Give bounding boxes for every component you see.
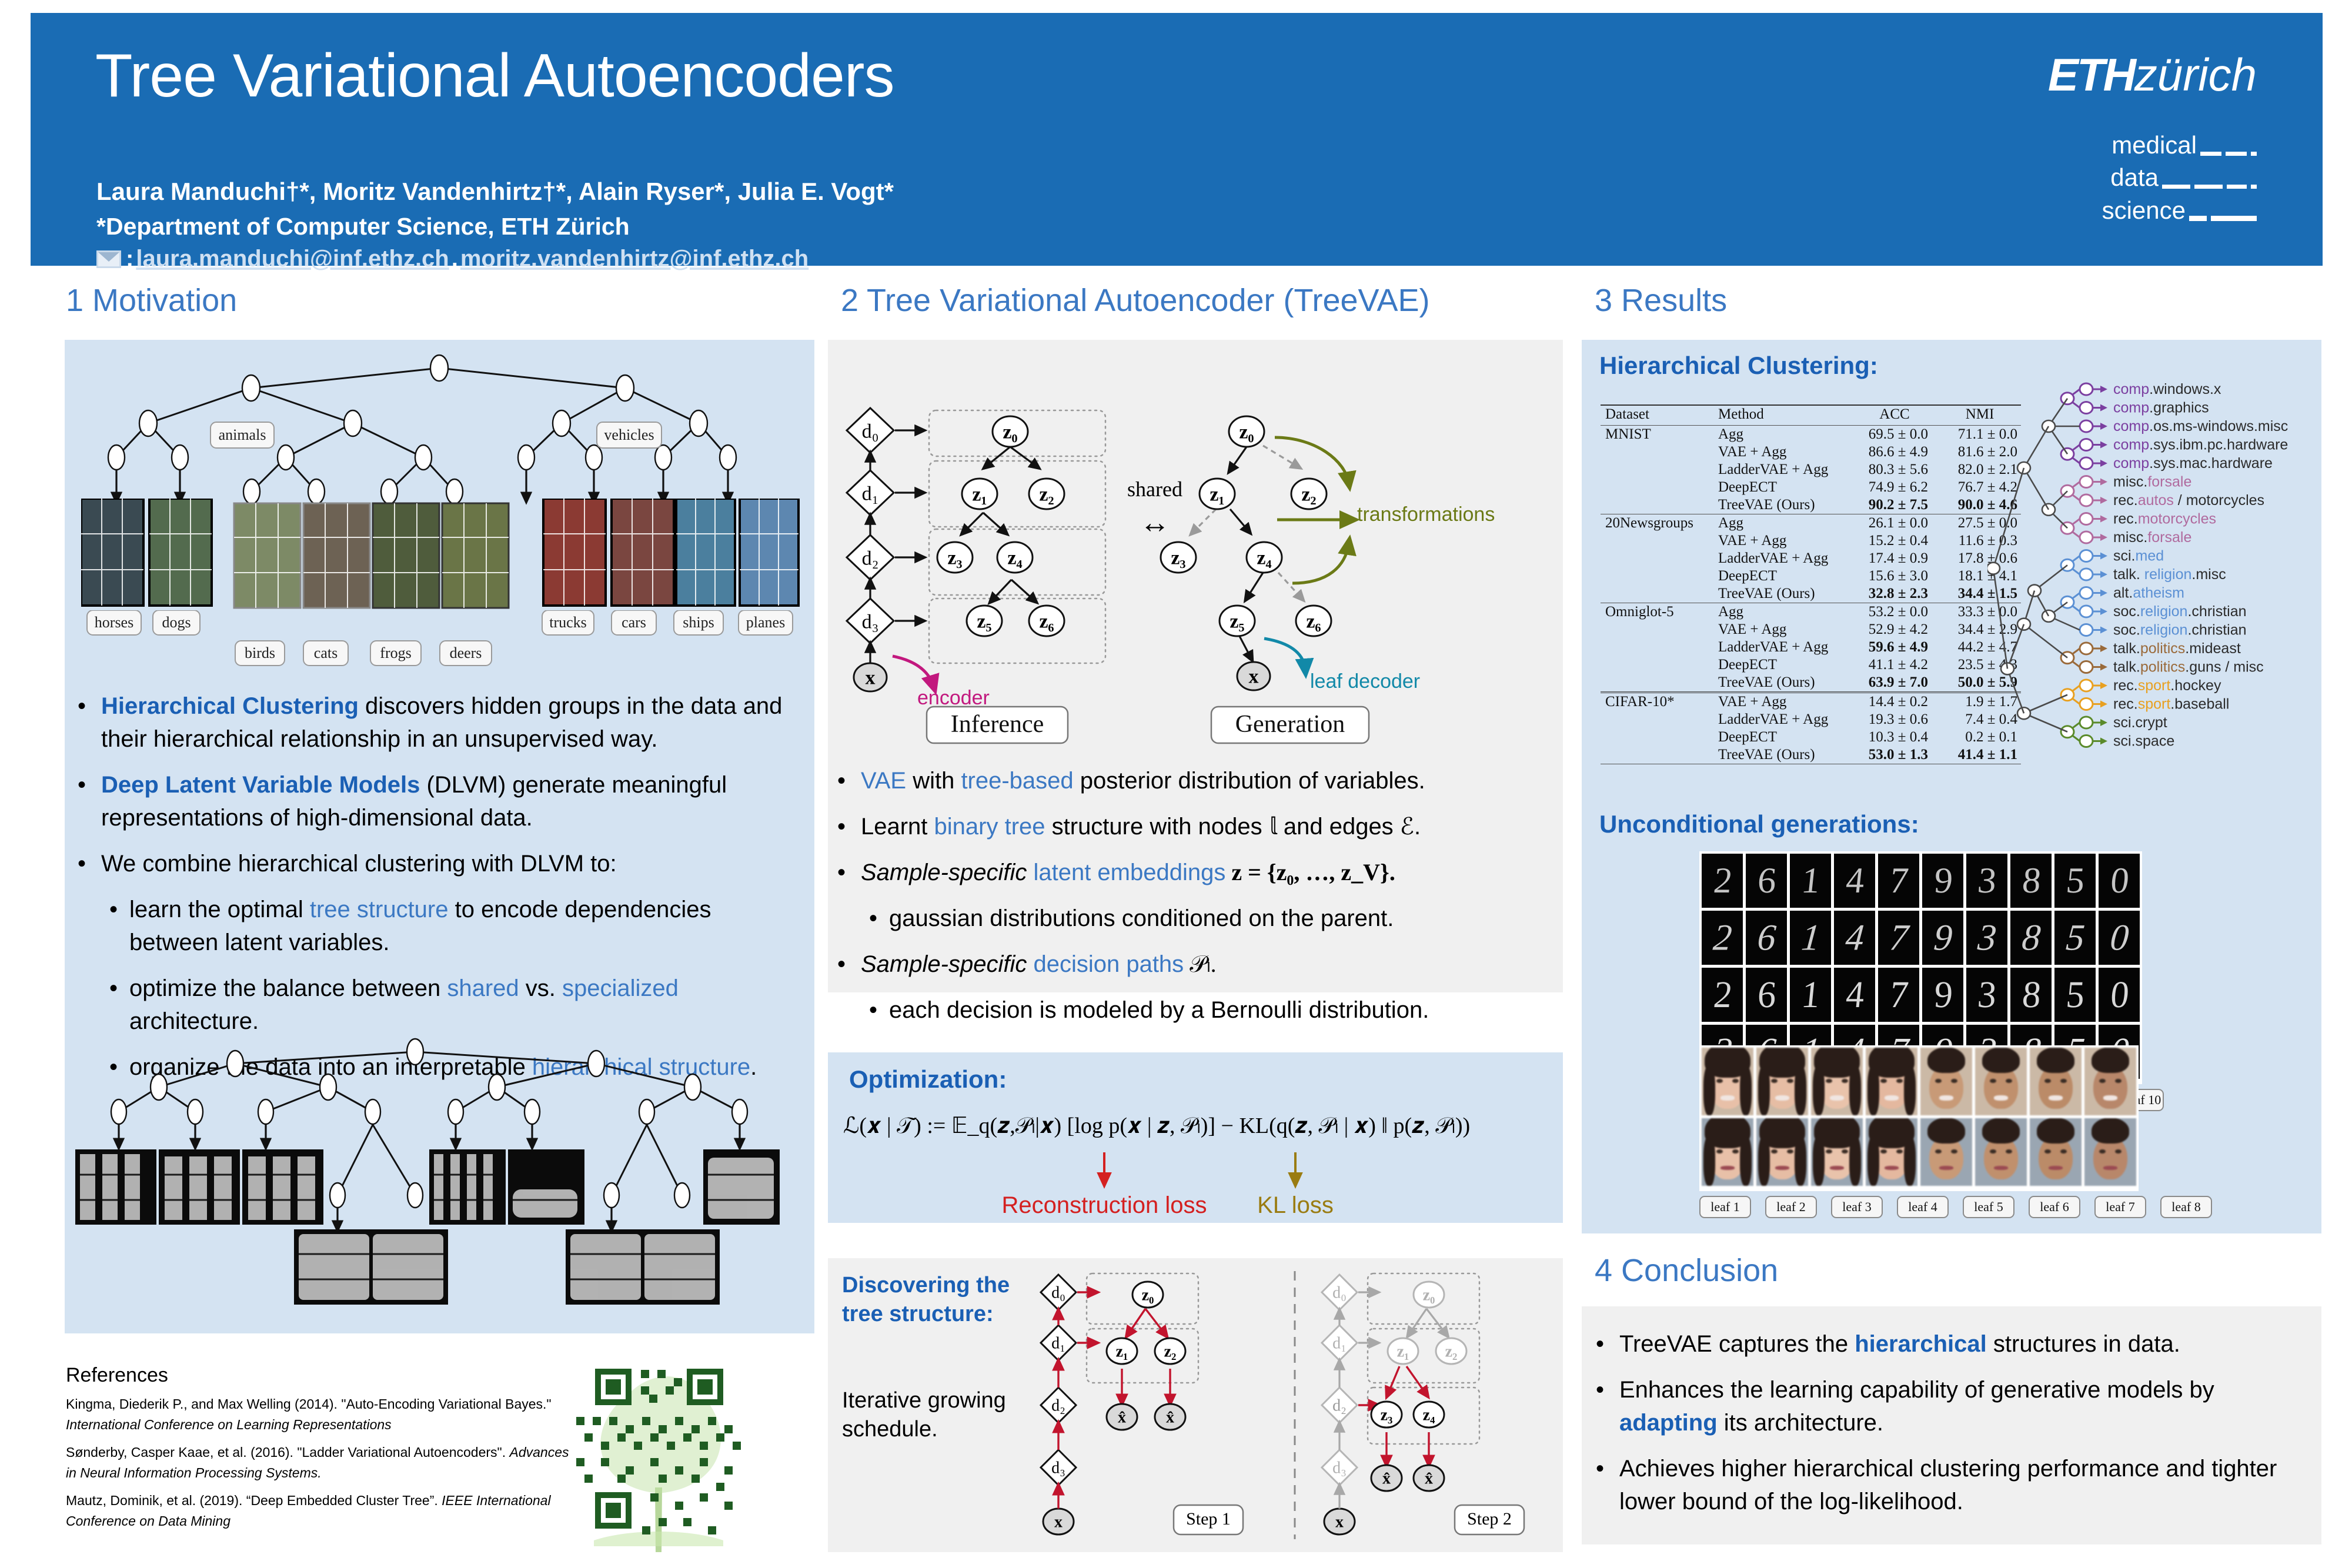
generated-digit-cell: 6 [1746, 968, 1787, 1022]
bullet-item: •We combine hierarchical clustering with… [78, 847, 804, 880]
table-row: DeepECT41.1 ± 4.223.5 ± 4.3 [1601, 656, 2021, 674]
generated-digit-cell: 8 [2010, 911, 2052, 965]
table-cell-acc: 41.1 ± 4.2 [1850, 656, 1939, 674]
hierarchical-clustering-heading: Hierarchical Clustering: [1599, 352, 1878, 380]
dendro-leaf-node [2080, 624, 2093, 636]
section-heading-results: 3 Results [1595, 282, 1727, 319]
svg-text:dogs: dogs [162, 614, 191, 631]
results-table-wrapper: Dataset Method ACC NMI MNISTAgg69.5 ± 0.… [1601, 404, 2021, 766]
dendro-leaf-node [2080, 717, 2093, 728]
table-row: LadderVAE + Agg17.4 ± 0.917.8 ± 0.6 [1601, 550, 2021, 567]
svg-text:x: x [1335, 1513, 1344, 1532]
svg-text:d₂: d₂ [862, 548, 879, 570]
label-planes: planes [739, 610, 793, 635]
dendro-leaf-label: rec.sport.hockey [2113, 677, 2221, 694]
growing-schedule-diagram: d₀ d₁ d₂ d₃ x z₀ z₁ z₂ x̂ x̂ Step 1 [1022, 1263, 1551, 1551]
generated-digit-cell: 7 [1878, 911, 1919, 965]
mnist-generation-row: 2614793850 [1702, 968, 2140, 1022]
mds-dashes-3 [2189, 216, 2257, 226]
email-separator: , [452, 246, 458, 272]
leaf-label-pill: leaf 5 [1963, 1196, 2014, 1218]
generated-digit-cell: 1 [1790, 911, 1831, 965]
svg-text:d₃: d₃ [1332, 1459, 1347, 1477]
dendro-leaf-label: misc.forsale [2113, 474, 2191, 490]
svg-text:deers: deers [450, 644, 482, 661]
reference-item: Sønderby, Casper Kaae, et al. (2016). "L… [66, 1442, 577, 1483]
label-dogs: dogs [153, 610, 200, 635]
dendro-leaf-label: sci.space [2113, 733, 2174, 750]
mds-line-science: science [2102, 194, 2186, 226]
reconstruction-loss-label: Reconstruction loss [1001, 1192, 1207, 1219]
table-cell-acc: 53.0 ± 1.3 [1850, 746, 1939, 764]
svg-text:d₃: d₃ [862, 611, 879, 633]
reference-item: Mautz, Dominik, et al. (2019). “Deep Emb… [66, 1490, 577, 1532]
dendro-leaf-node [2080, 476, 2093, 488]
generated-digit-cell: 7 [1878, 968, 1919, 1022]
eth-letters: ETH [2048, 49, 2134, 101]
generated-face-cell [1811, 1118, 1863, 1186]
results-table: Dataset Method ACC NMI MNISTAgg69.5 ± 0.… [1601, 404, 2021, 766]
references-block: References Kingma, Diederik P., and Max … [66, 1364, 577, 1532]
concept-label-vehicles: vehicles [597, 422, 661, 448]
bullet-dot-icon: • [1596, 1328, 1619, 1360]
generated-digit-cell: 2 [1702, 968, 1743, 1022]
bullet-dot-icon: • [1596, 1452, 1619, 1518]
table-cell-dataset: Omniglot-5 [1601, 603, 1718, 621]
svg-text:d₁: d₁ [1051, 1335, 1065, 1353]
leaf-label-pill: leaf 6 [2029, 1196, 2080, 1218]
svg-text:x̂: x̂ [1425, 1470, 1433, 1488]
table-cell-acc: 63.9 ± 7.0 [1850, 674, 1939, 693]
dendro-leaf-label: talk.politics.guns / misc [2113, 659, 2264, 676]
bullet-dot-icon: • [837, 764, 861, 797]
bullet-text-fragment: tree-based [961, 768, 1073, 794]
bullet-dot-icon: • [78, 847, 101, 880]
eth-zurich-logo: ETHzürich medical data science [2048, 48, 2257, 226]
svg-text:birds: birds [245, 644, 275, 661]
table-cell-dataset [1601, 674, 1718, 693]
table-cell-method: LadderVAE + Agg [1718, 638, 1850, 656]
generated-face-cell [1975, 1048, 2027, 1115]
bullet-text-fragment: with [906, 768, 961, 794]
bullet-content: Enhances the learning capability of gene… [1619, 1373, 2310, 1439]
dendro-leaf-node [2080, 698, 2093, 710]
table-cell-dataset [1601, 479, 1718, 496]
medical-data-science-logo: medical data science [2048, 129, 2257, 226]
dendro-arrow-icon [2100, 571, 2107, 578]
table-cell-acc: 74.9 ± 6.2 [1850, 479, 1939, 496]
table-cell-dataset [1601, 621, 1718, 638]
table-cell-dataset: MNIST [1601, 426, 1718, 444]
table-row: TreeVAE (Ours)63.9 ± 7.050.0 ± 5.9 [1601, 674, 2021, 693]
mds-line-medical: medical [2112, 129, 2197, 161]
table-cell-dataset [1601, 443, 1718, 461]
email-colon: : [126, 246, 133, 272]
generated-digit-cell: 8 [2010, 854, 2052, 908]
generated-digit-cell: 6 [1746, 854, 1787, 908]
generated-digit-cell: 0 [2099, 968, 2140, 1022]
table-cell-dataset [1601, 656, 1718, 674]
generated-digit-cell: 5 [2054, 854, 2096, 908]
dendro-leaf-label: comp.sys.mac.hardware [2113, 455, 2273, 472]
svg-text:z₄: z₄ [1007, 547, 1022, 569]
step2-badge: Step 2 [1455, 1505, 1524, 1534]
table-cell-method: VAE + Agg [1718, 693, 1850, 711]
label-birds: birds [235, 641, 285, 666]
table-cell-dataset [1601, 728, 1718, 746]
table-row: TreeVAE (Ours)90.2 ± 7.590.0 ± 4.6 [1601, 496, 2021, 514]
svg-text:trucks: trucks [549, 614, 587, 631]
celeba-generation-grid: leaf 1leaf 2leaf 3leaf 4leaf 5leaf 6leaf… [1699, 1045, 2212, 1218]
qr-code-with-tree-art[interactable] [559, 1352, 759, 1552]
bullet-text-fragment: each decision is modeled by a Bernoulli … [889, 997, 1429, 1023]
svg-text:z₁: z₁ [1116, 1343, 1128, 1361]
reference-text: Kingma, Diederik P., and Max Welling (20… [66, 1396, 552, 1412]
generated-digit-cell: 3 [1966, 854, 2007, 908]
table-cell-method: TreeVAE (Ours) [1718, 674, 1850, 693]
bullet-text-fragment: z = {z₀, …, z_V}. [1225, 859, 1395, 885]
conclusion-panel: •TreeVAE captures the hierarchical struc… [1582, 1306, 2321, 1544]
generated-digit-cell: 9 [1922, 911, 1963, 965]
face-generation-row [1702, 1048, 2136, 1115]
bullet-content: Sample-specific decision paths 𝒫ₗ. [861, 948, 1217, 981]
bullet-item: •Learnt binary tree structure with nodes… [837, 810, 1558, 843]
label-horses: horses [87, 610, 141, 635]
svg-text:Generation: Generation [1235, 711, 1345, 738]
svg-text:d₀: d₀ [862, 421, 879, 443]
generated-face-cell [1975, 1118, 2027, 1186]
bullet-text-fragment: vs. [519, 975, 562, 1001]
table-row: DeepECT74.9 ± 6.276.7 ± 4.2 [1601, 479, 2021, 496]
svg-text:z₀: z₀ [1239, 422, 1254, 443]
generated-digit-cell: 4 [1834, 854, 1875, 908]
svg-text:cats: cats [314, 644, 338, 661]
dendro-arrow-icon [2100, 516, 2107, 523]
generated-digit-cell: 3 [1966, 911, 2007, 965]
generated-face-cell [1702, 1048, 1753, 1115]
dendro-arrow-icon [2100, 460, 2107, 467]
eth-wordmark: ETHzürich [2048, 48, 2257, 102]
bullet-text-fragment: Achieves higher hierarchical clustering … [1619, 1456, 2277, 1514]
table-row: LadderVAE + Agg59.6 ± 4.944.2 ± 4.7 [1601, 638, 2021, 656]
bidirectional-arrow-icon: ↔ [1140, 506, 1170, 540]
bullet-text-fragment: hierarchical [1855, 1331, 1987, 1357]
bullet-text-fragment: tree structure [310, 897, 449, 922]
svg-text:ships: ships [683, 614, 714, 631]
bullet-item: •Sample-specific decision paths 𝒫ₗ. [837, 948, 1558, 981]
bullet-text-fragment: specialized [562, 975, 679, 1001]
table-row: MNISTAgg69.5 ± 0.071.1 ± 0.0 [1601, 426, 2021, 444]
bullet-text-fragment [1027, 860, 1033, 885]
table-row: TreeVAE (Ours)53.0 ± 1.341.4 ± 1.1 [1601, 746, 2021, 764]
table-bottom-rule [1601, 764, 2021, 766]
generated-face-cell [1866, 1048, 1917, 1115]
svg-text:horses: horses [95, 614, 133, 631]
section-heading-motivation: 1 Motivation [66, 282, 237, 319]
bullet-item: •Sample-specific latent embeddings z = {… [837, 856, 1558, 889]
section-heading-treevae: 2 Tree Variational Autoencoder (TreeVAE) [841, 282, 1430, 319]
svg-text:x: x [1054, 1513, 1063, 1532]
dendro-leaf-label: rec.motorcycles [2113, 511, 2216, 527]
svg-text:d₂: d₂ [1332, 1397, 1347, 1415]
dendro-leaf-label: soc.religion.christian [2113, 622, 2247, 638]
author-list: Laura Manduchi†*, Moritz Vandenhirtz†*, … [96, 178, 894, 206]
bullet-text-fragment: binary tree [934, 814, 1045, 840]
bullet-dot-icon: • [1596, 1373, 1619, 1439]
dendro-leaf-node [2080, 643, 2093, 654]
bullet-text-fragment: Enhances the learning capability of gene… [1619, 1377, 2214, 1403]
bullet-item: •learn the optimal tree structure to enc… [78, 893, 804, 959]
results-panel: Hierarchical Clustering: Dataset Method … [1582, 340, 2321, 1233]
bullet-text-fragment: Hierarchical Clustering [101, 693, 359, 719]
svg-text:z₅: z₅ [977, 611, 991, 633]
generated-face-cell [1866, 1118, 1917, 1186]
motivation-panel: animals vehicles [65, 340, 814, 1333]
table-cell-dataset [1601, 711, 1718, 728]
bullet-text-fragment: optimize the balance between [129, 975, 447, 1001]
bullet-content: We combine hierarchical clustering with … [101, 847, 617, 880]
table-cell-method: Agg [1718, 603, 1850, 621]
bullet-dot-icon: • [109, 893, 129, 959]
label-trucks: trucks [542, 610, 594, 635]
dendro-leaf-label: comp.os.ms-windows.misc [2113, 418, 2288, 434]
table-cell-dataset [1601, 550, 1718, 567]
table-cell-acc: 17.4 ± 0.9 [1850, 550, 1939, 567]
svg-text:Step 2: Step 2 [1467, 1509, 1512, 1529]
generated-face-cell [2030, 1118, 2082, 1186]
shared-label: shared [1127, 477, 1182, 501]
bullet-text-fragment [1027, 951, 1033, 977]
table-cell-acc: 14.4 ± 0.2 [1850, 693, 1939, 711]
label-cats: cats [303, 641, 348, 666]
mnist-generation-row: 2614793850 [1702, 911, 2140, 965]
generated-face-cell [1920, 1048, 1972, 1115]
bullet-text-fragment: adapting [1619, 1410, 1718, 1436]
bullet-content: gaussian distributions conditioned on th… [889, 902, 1394, 935]
leaf-label-pill: leaf 1 [1699, 1196, 1751, 1218]
discovery-body: Iterative growing schedule. [842, 1386, 1006, 1445]
svg-text:planes: planes [746, 614, 785, 631]
bullet-text-fragment: Sample-specific [861, 951, 1027, 977]
dendro-arrow-icon [2100, 442, 2107, 449]
svg-text:z₃: z₃ [1171, 547, 1185, 569]
dendro-leaf-node [2080, 661, 2093, 673]
table-row: VAE + Agg15.2 ± 0.411.6 ± 0.3 [1601, 532, 2021, 550]
loss-arrows [828, 1150, 1563, 1195]
dendro-leaf-label: sci.crypt [2113, 714, 2167, 731]
table-cell-dataset [1601, 496, 1718, 514]
dendro-leaf-label: misc.forsale [2113, 529, 2191, 546]
face-generation-row [1702, 1118, 2136, 1186]
table-cell-method: VAE + Agg [1718, 532, 1850, 550]
bullet-text-fragment: gaussian distributions conditioned on th… [889, 905, 1394, 931]
table-cell-dataset: 20Newsgroups [1601, 514, 1718, 533]
bullet-text-fragment: decision paths [1033, 951, 1184, 977]
table-cell-acc: 19.3 ± 0.6 [1850, 711, 1939, 728]
svg-text:z₄: z₄ [1257, 547, 1271, 569]
bullet-text-fragment: structures in data. [1987, 1331, 2180, 1357]
references-heading: References [66, 1364, 577, 1387]
envelope-icon [96, 250, 121, 268]
svg-text:d₂: d₂ [1051, 1397, 1065, 1415]
bullet-text-fragment: Deep Latent Variable Models [101, 772, 420, 798]
elbo-formula: ℒ(𝒙 | 𝒯) := 𝔼_q(𝒛,𝒫ₗ|𝒙) [log p(𝒙 | 𝒛, 𝒫ₗ… [843, 1112, 1549, 1139]
leaf-decoder-label: leaf decoder [1310, 670, 1420, 693]
generated-digit-cell: 5 [2054, 911, 2096, 965]
reference-item: Kingma, Diederik P., and Max Welling (20… [66, 1394, 577, 1435]
bullet-dot-icon: • [78, 690, 101, 755]
dendro-leaf-label: comp.graphics [2113, 400, 2209, 416]
dendro-leaf-node [2080, 494, 2093, 506]
bullet-text-fragment: Learnt [861, 814, 934, 840]
table-row: CIFAR-10*VAE + Agg14.4 ± 0.21.9 ± 1.7 [1601, 693, 2021, 711]
bullet-item: •gaussian distributions conditioned on t… [837, 902, 1558, 935]
bullet-text-fragment: latent embeddings [1033, 860, 1225, 885]
generated-digit-cell: 7 [1878, 854, 1919, 908]
svg-text:d₁: d₁ [862, 483, 879, 505]
svg-text:x̂: x̂ [1118, 1409, 1126, 1427]
email-link-1[interactable]: laura.manduchi@inf.ethz.ch [136, 246, 449, 272]
generated-face-cell [2084, 1118, 2136, 1186]
bullet-dot-icon: • [869, 902, 889, 935]
svg-text:z₁: z₁ [972, 484, 987, 506]
reference-venue: International Conference on Learning Rep… [66, 1417, 392, 1432]
generated-digit-cell: 5 [2054, 968, 2096, 1022]
bullet-text-fragment: shared [447, 975, 519, 1001]
newsgroups-dendrogram: comp.windows.xcomp.graphicscomp.os.ms-wi… [1987, 375, 2317, 787]
bullet-text-fragment: TreeVAE captures the [1619, 1331, 1855, 1357]
dendro-leaf-node [2080, 439, 2093, 451]
bullet-text-fragment: posterior distribution of variables. [1074, 768, 1425, 794]
transformations-label: transformations [1357, 503, 1495, 526]
generated-digit-cell: 8 [2010, 968, 2052, 1022]
bullet-content: Achieves higher hierarchical clustering … [1619, 1452, 2310, 1518]
dendro-arrow-icon [2100, 645, 2107, 652]
bullet-content: learn the optimal tree structure to enco… [129, 893, 804, 959]
email-link-2[interactable]: moritz.vandenhirtz@inf.ethz.ch [460, 246, 808, 272]
table-cell-method: Agg [1718, 426, 1850, 444]
dendro-arrow-icon [2100, 423, 2107, 430]
table-row: VAE + Agg86.6 ± 4.981.6 ± 2.0 [1601, 443, 2021, 461]
dendro-leaf-node [2080, 531, 2093, 543]
dendro-arrow-icon [2100, 738, 2107, 745]
svg-text:z₀: z₀ [1142, 1286, 1154, 1305]
generated-face-cell [1702, 1118, 1753, 1186]
dendro-leaf-node [2080, 420, 2093, 432]
treevae-bullet-list: •VAE with tree-based posterior distribut… [837, 764, 1558, 1039]
table-cell-acc: 26.1 ± 0.0 [1850, 514, 1939, 533]
table-row: TreeVAE (Ours)32.8 ± 2.334.4 ± 1.5 [1601, 585, 2021, 603]
dendro-leaf-node [2080, 735, 2093, 747]
table-row: VAE + Agg52.9 ± 4.234.4 ± 2.9 [1601, 621, 2021, 638]
leaf-label-pill: leaf 3 [1831, 1196, 1883, 1218]
generated-digit-cell: 1 [1790, 968, 1831, 1022]
svg-text:z₁: z₁ [1210, 484, 1224, 506]
generated-face-cell [2030, 1048, 2082, 1115]
dendro-leaf-node [2080, 569, 2093, 580]
table-cell-method: TreeVAE (Ours) [1718, 585, 1850, 603]
bullet-content: each decision is modeled by a Bernoulli … [889, 994, 1429, 1027]
bullet-text-fragment: 𝒫ₗ. [1184, 951, 1216, 977]
table-cell-acc: 52.9 ± 4.2 [1850, 621, 1939, 638]
dendro-leaf-label: comp.windows.x [2113, 381, 2221, 397]
table-row: LadderVAE + Agg80.3 ± 5.682.0 ± 2.1 [1601, 461, 2021, 479]
optimization-heading: Optimization: [849, 1065, 1007, 1094]
svg-text:z₂: z₂ [1039, 484, 1054, 506]
svg-text:z₂: z₂ [1164, 1343, 1177, 1361]
table-header-row: Dataset Method ACC NMI [1601, 405, 2021, 426]
dendro-arrow-icon [2100, 682, 2107, 689]
bullet-text-fragment: its architecture. [1718, 1410, 1883, 1436]
table-cell-method: DeepECT [1718, 479, 1850, 496]
bullet-dot-icon: • [837, 948, 861, 981]
svg-text:x̂: x̂ [1166, 1409, 1174, 1427]
bullet-text-fragment: We combine hierarchical clustering with … [101, 851, 617, 877]
generated-digit-cell: 9 [1922, 854, 1963, 908]
conclusion-bullet-list: •TreeVAE captures the hierarchical struc… [1596, 1328, 2310, 1531]
dendro-leaf-label: sci.med [2113, 548, 2164, 564]
bullet-item: •TreeVAE captures the hierarchical struc… [1596, 1328, 2310, 1360]
table-row: DeepECT10.3 ± 0.40.2 ± 0.1 [1601, 728, 2021, 746]
table-cell-dataset [1601, 567, 1718, 585]
bullet-item: •Deep Latent Variable Models (DLVM) gene… [78, 768, 804, 834]
dendro-arrow-icon [2100, 590, 2107, 597]
label-frogs: frogs [370, 641, 421, 666]
dendro-arrow-icon [2100, 386, 2107, 393]
discovery-heading: Discovering the tree structure: [842, 1271, 1010, 1328]
bullet-content: Sample-specific latent embeddings z = {z… [861, 856, 1395, 889]
svg-text:z₂: z₂ [1445, 1343, 1458, 1361]
optimization-panel: Optimization: ℒ(𝒙 | 𝒯) := 𝔼_q(𝒛,𝒫ₗ|𝒙) [l… [828, 1052, 1563, 1223]
table-cell-acc: 59.6 ± 4.9 [1850, 638, 1939, 656]
svg-text:cars: cars [622, 614, 646, 631]
table-cell-method: LadderVAE + Agg [1718, 461, 1850, 479]
svg-text:d₀: d₀ [1332, 1284, 1347, 1302]
svg-text:z₀: z₀ [1003, 422, 1017, 443]
fashion-mnist-tree-diagram [65, 1019, 814, 1325]
dendro-leaf-node [2080, 457, 2093, 469]
dendro-arrow-icon [2100, 553, 2107, 560]
table-cell-method: DeepECT [1718, 656, 1850, 674]
table-cell-acc: 86.6 ± 4.9 [1850, 443, 1939, 461]
table-cell-method: DeepECT [1718, 728, 1850, 746]
inference-box: Inference [927, 707, 1068, 743]
generated-digit-cell: 2 [1702, 854, 1743, 908]
leaf-label-pill: leaf 2 [1765, 1196, 1817, 1218]
dendro-leaf-node [2080, 606, 2093, 617]
generation-box: Generation [1211, 707, 1369, 743]
dendro-leaf-label: comp.sys.ibm.pc.hardware [2113, 437, 2288, 453]
generated-digit-cell: 0 [2099, 911, 2140, 965]
bullet-item: •Enhances the learning capability of gen… [1596, 1373, 2310, 1439]
bullet-content: Hierarchical Clustering discovers hidden… [101, 690, 804, 755]
table-cell-acc: 10.3 ± 0.4 [1850, 728, 1939, 746]
generated-face-cell [1920, 1118, 1972, 1186]
contact-emails: : laura.manduchi@inf.ethz.ch , moritz.va… [96, 246, 808, 272]
table-cell-acc: 90.2 ± 7.5 [1850, 496, 1939, 514]
bullet-dot-icon: • [837, 856, 861, 889]
generated-digit-cell: 4 [1834, 911, 1875, 965]
svg-text:z₅: z₅ [1230, 611, 1244, 633]
dendro-leaf-node [2080, 550, 2093, 562]
bullet-text-fragment: Sample-specific [861, 860, 1027, 885]
table-cell-acc: 53.2 ± 0.0 [1850, 603, 1939, 621]
generated-digit-cell: 4 [1834, 968, 1875, 1022]
generated-digit-cell: 0 [2099, 854, 2140, 908]
bullet-dot-icon: • [78, 768, 101, 834]
svg-text:d₁: d₁ [1332, 1335, 1347, 1353]
generated-face-cell [1756, 1118, 1808, 1186]
